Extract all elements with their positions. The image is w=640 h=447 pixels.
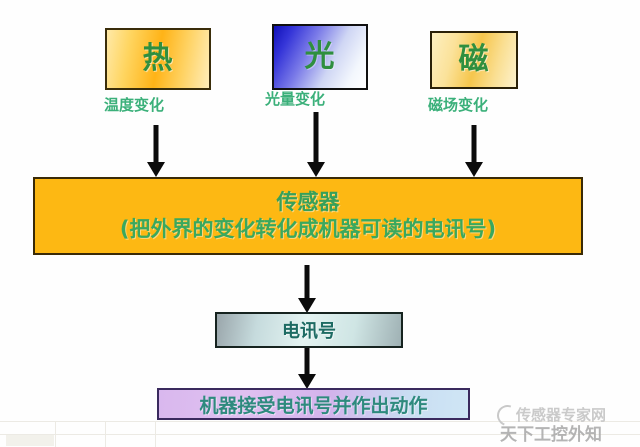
source-glyph-heat: 热 bbox=[143, 44, 174, 74]
arrow-head bbox=[147, 162, 165, 177]
arrow-shaft bbox=[472, 125, 477, 162]
source-glyph-light: 光 bbox=[305, 42, 336, 72]
arrow-shaft bbox=[154, 125, 159, 162]
grid-line bbox=[155, 421, 156, 447]
arrow-head bbox=[465, 162, 483, 177]
action-box: 机器接受电讯号并作出动作 bbox=[157, 388, 470, 420]
arrow-head bbox=[298, 298, 316, 313]
arrow-head bbox=[298, 374, 316, 389]
arrow-sensor-to-signal bbox=[298, 265, 316, 313]
arrow-shaft bbox=[305, 348, 310, 374]
sensor-title: 传感器 bbox=[277, 191, 340, 214]
source-box-magnet: 磁 bbox=[430, 31, 518, 89]
arrow-light-to-sensor bbox=[307, 112, 325, 177]
sensor-box: 传感器 (把外界的变化转化成机器可读的电讯号) bbox=[33, 177, 583, 255]
grid-cell bbox=[6, 435, 54, 446]
source-glyph-magnet: 磁 bbox=[459, 45, 490, 75]
watermark-secondary: 天下工控外知 bbox=[500, 420, 602, 445]
arrow-shaft bbox=[314, 112, 319, 162]
source-caption-heat: 温度变化 bbox=[104, 94, 164, 115]
signal-label: 电讯号 bbox=[282, 317, 336, 343]
action-label: 机器接受电讯号并作出动作 bbox=[199, 391, 427, 418]
arrow-magnet-to-sensor bbox=[465, 125, 483, 177]
arrow-signal-to-action bbox=[298, 348, 316, 389]
sensor-subtitle: (把外界的变化转化成机器可读的电讯号) bbox=[120, 218, 496, 241]
source-box-light: 光 bbox=[272, 24, 368, 90]
grid-line bbox=[55, 421, 56, 447]
source-caption-magnet: 磁场变化 bbox=[428, 94, 488, 115]
arrow-shaft bbox=[305, 265, 310, 298]
diagram-canvas: 热 温度变化 光 光量变化 磁 磁场变化 传感器 (把外界的变化转化成机器可读的… bbox=[0, 0, 640, 447]
grid-line bbox=[105, 421, 106, 447]
source-caption-light: 光量变化 bbox=[265, 88, 325, 109]
arrow-heat-to-sensor bbox=[147, 125, 165, 177]
arrow-head bbox=[307, 162, 325, 177]
source-box-heat: 热 bbox=[105, 28, 211, 90]
signal-box: 电讯号 bbox=[215, 312, 403, 348]
